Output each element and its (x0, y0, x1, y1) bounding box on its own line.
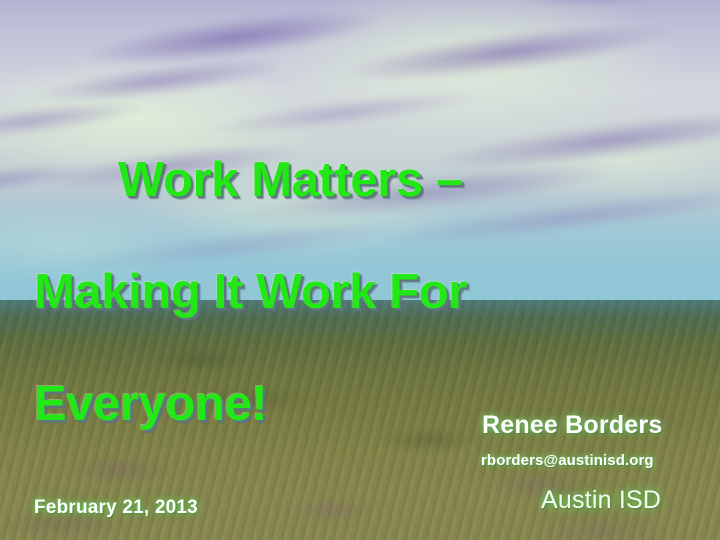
presenter-organization: Austin ISD (541, 486, 661, 515)
slide-title-line-1: Work Matters – (34, 152, 554, 208)
presenter-email: rborders@austinisd.org (481, 452, 654, 469)
slide-title: Work Matters – Making It Work For Everyo… (34, 96, 554, 488)
slide-title-line-3: Everyone! (34, 376, 554, 432)
slide-title-line-2: Making It Work For (34, 264, 554, 320)
presentation-slide: Work Matters – Making It Work For Everyo… (0, 0, 720, 540)
presenter-name: Renee Borders (482, 411, 662, 440)
presentation-date: February 21, 2013 (34, 497, 198, 519)
